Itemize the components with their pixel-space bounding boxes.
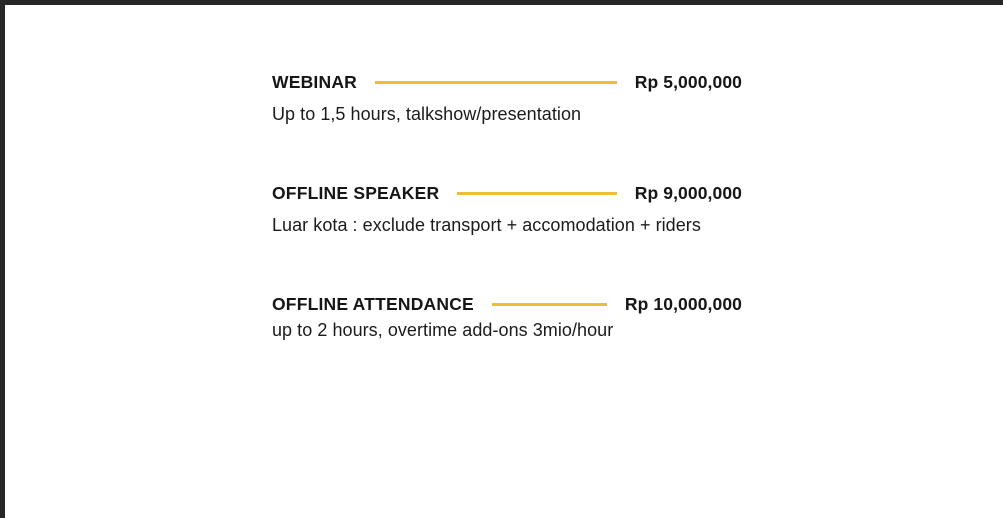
pricing-item-description: Up to 1,5 hours, talkshow/presentation bbox=[272, 104, 912, 125]
pricing-item-header: OFFLINE SPEAKER Rp 9,000,000 bbox=[272, 183, 742, 204]
pricing-item-description: up to 2 hours, overtime add-ons 3mio/hou… bbox=[272, 320, 912, 341]
pricing-item-title: OFFLINE SPEAKER bbox=[272, 183, 439, 204]
pricing-item-offline-speaker: OFFLINE SPEAKER Rp 9,000,000 Luar kota :… bbox=[272, 183, 912, 236]
pricing-item-header: WEBINAR Rp 5,000,000 bbox=[272, 72, 742, 93]
pricing-slide: WEBINAR Rp 5,000,000 Up to 1,5 hours, ta… bbox=[0, 0, 1003, 518]
pricing-item-title: OFFLINE ATTENDANCE bbox=[272, 294, 474, 315]
pricing-item-price: Rp 5,000,000 bbox=[635, 72, 742, 93]
pricing-item-header: OFFLINE ATTENDANCE Rp 10,000,000 bbox=[272, 294, 742, 315]
pricing-list: WEBINAR Rp 5,000,000 Up to 1,5 hours, ta… bbox=[272, 72, 912, 341]
slide-left-border bbox=[0, 0, 5, 518]
pricing-item-offline-attendance: OFFLINE ATTENDANCE Rp 10,000,000 up to 2… bbox=[272, 294, 912, 341]
pricing-item-price: Rp 9,000,000 bbox=[635, 183, 742, 204]
pricing-item-description: Luar kota : exclude transport + accomoda… bbox=[272, 215, 912, 236]
slide-top-border bbox=[0, 0, 1003, 5]
pricing-item-title: WEBINAR bbox=[272, 72, 357, 93]
leader-line bbox=[375, 81, 617, 84]
pricing-item-price: Rp 10,000,000 bbox=[625, 294, 742, 315]
leader-line bbox=[457, 192, 616, 195]
leader-line bbox=[492, 303, 607, 306]
pricing-item-webinar: WEBINAR Rp 5,000,000 Up to 1,5 hours, ta… bbox=[272, 72, 912, 125]
